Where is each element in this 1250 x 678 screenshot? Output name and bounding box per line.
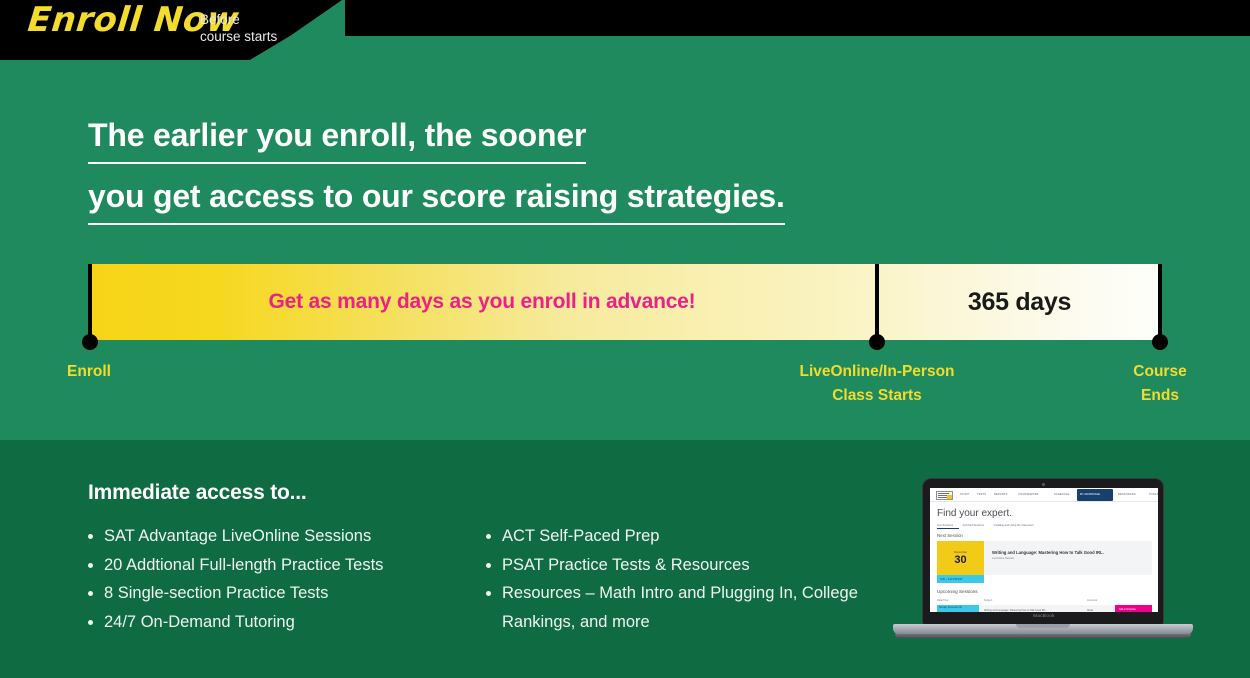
timeline-caption-class-starts-l1: LiveOnline/In-Person xyxy=(757,360,997,384)
nav-item-study[interactable]: STUDY xyxy=(960,493,970,496)
benefits-column-right: ACT Self-Paced Prep PSAT Practice Tests … xyxy=(486,522,906,636)
column-header-datetime: Date/Time xyxy=(937,599,948,602)
next-session-time-badge: 3:00 – 3:30 PM EST xyxy=(937,575,984,583)
nav-item-tests[interactable]: TESTS xyxy=(977,493,986,496)
tab-live-sessions[interactable]: Live Sessions xyxy=(937,524,953,527)
timeline-marker-course-ends xyxy=(1158,264,1162,340)
timeline-marker-class-starts xyxy=(875,264,879,340)
tab-active-underline xyxy=(937,528,959,529)
screen-tabs: Live Sessions Archived Sessions Installi… xyxy=(937,524,1043,527)
headline-row-2: you get access to our score raising stra… xyxy=(88,173,785,225)
headline-row-1: The earlier you enroll, the sooner xyxy=(88,112,785,164)
app-navbar: STUDY TESTS REPORTS COURSEWORK SCHEDULE … xyxy=(930,488,1158,502)
nav-item-my-advantage-label: MY ADVANTAGE xyxy=(1080,493,1100,496)
laptop-base-notch xyxy=(1016,624,1070,628)
add-to-schedule-label: Add to Schedule xyxy=(1119,609,1136,611)
nav-item-coursework[interactable]: COURSEWORK xyxy=(1018,493,1039,496)
laptop-screen: STUDY TESTS REPORTS COURSEWORK SCHEDULE … xyxy=(930,488,1158,612)
timeline-caption-enroll-l1: Enroll xyxy=(28,360,150,384)
benefit-text: PSAT Practice Tests & Resources xyxy=(502,551,750,580)
next-session-day: 30 xyxy=(937,554,984,567)
list-item: Resources – Math Intro and Plugging In, … xyxy=(486,579,906,636)
nav-item-resources[interactable]: RESOURCES xyxy=(1118,493,1136,496)
ribbon-subtext-line1: Before xyxy=(200,11,277,28)
row-date-badge: Sunday, December 30 xyxy=(937,605,979,612)
timeline-promo-label: Get as many days as you enroll in advanc… xyxy=(88,264,876,340)
list-item: SAT Advantage LiveOnline Sessions xyxy=(88,522,488,551)
row-date: Sunday, December 30 xyxy=(939,607,962,610)
bullet-dot-icon xyxy=(486,563,491,568)
tab-archived-sessions[interactable]: Archived Sessions xyxy=(963,524,984,527)
ribbon-subtext-line2: course starts xyxy=(200,28,277,45)
benefit-text: 20 Addtional Full-length Practice Tests xyxy=(104,551,383,580)
next-session-date-badge: December 30 xyxy=(937,541,984,575)
benefits-column-left: SAT Advantage LiveOnline Sessions 20 Add… xyxy=(88,522,488,636)
column-header-instructor: Instructor xyxy=(1087,599,1097,602)
next-session-subtitle: LiveOnline Session xyxy=(992,557,1014,560)
row-instructor: Alicia xyxy=(1087,609,1093,612)
laptop-mockup: STUDY TESTS REPORTS COURSEWORK SCHEDULE … xyxy=(893,478,1193,650)
bullet-dot-icon xyxy=(88,591,93,596)
nav-item-my-advantage[interactable]: MY ADVANTAGE xyxy=(1077,489,1113,501)
list-item: 24/7 On-Demand Tutoring xyxy=(88,608,488,637)
nav-item-schedule[interactable]: SCHEDULE xyxy=(1054,493,1069,496)
webcam-icon xyxy=(1042,483,1045,486)
timeline-caption-course-ends-l1: Course xyxy=(1100,360,1220,384)
benefits-title: Immediate access to... xyxy=(88,481,307,505)
benefit-text: 24/7 On-Demand Tutoring xyxy=(104,608,295,637)
next-session-time: 3:00 – 3:30 PM EST xyxy=(940,578,963,581)
headline: The earlier you enroll, the sooner you g… xyxy=(88,112,785,234)
timeline-caption-enroll: Enroll xyxy=(28,360,150,384)
list-item: 20 Addtional Full-length Practice Tests xyxy=(88,551,488,580)
timeline-caption-class-starts: LiveOnline/In-Person Class Starts xyxy=(757,360,997,408)
bullet-dot-icon xyxy=(88,534,93,539)
nav-item-reports[interactable]: REPORTS xyxy=(994,493,1008,496)
laptop-foot xyxy=(895,634,1191,638)
bullet-dot-icon xyxy=(88,563,93,568)
next-session-title: Writing and Language: Mastering How to T… xyxy=(992,550,1104,555)
timeline-dot-enroll xyxy=(82,334,98,350)
next-session-card[interactable]: December 30 Writing and Language: Master… xyxy=(937,541,1152,575)
row-subject: Writing and Language: Mastering How to T… xyxy=(984,609,1046,612)
laptop-lid: STUDY TESTS REPORTS COURSEWORK SCHEDULE … xyxy=(922,478,1164,625)
screen-page-title: Find your expert. xyxy=(937,508,1012,519)
benefit-text: 8 Single-section Practice Tests xyxy=(104,579,328,608)
table-row[interactable]: Sunday, December 30 Writing and Language… xyxy=(937,605,1152,612)
ribbon-subtext: Before course starts xyxy=(200,11,277,45)
next-session-heading: Next Session xyxy=(937,533,963,538)
tab-installing-classroom[interactable]: Installing and Using the Classroom xyxy=(994,524,1034,527)
headline-line-2: you get access to our score raising stra… xyxy=(88,173,785,225)
timeline-dot-course-ends xyxy=(1152,334,1168,350)
add-to-schedule-button[interactable]: Add to Schedule xyxy=(1115,605,1152,612)
benefit-text: ACT Self-Paced Prep xyxy=(502,522,659,551)
bullet-dot-icon xyxy=(88,620,93,625)
nav-item-tools[interactable]: TOOLS xyxy=(1149,493,1158,496)
timeline-caption-course-ends: Course Ends xyxy=(1100,360,1220,408)
list-item: ACT Self-Paced Prep xyxy=(486,522,906,551)
princeton-review-logo-icon xyxy=(936,491,953,500)
upcoming-sessions-heading: Upcoming Sessions xyxy=(937,589,978,594)
timeline-duration-label: 365 days xyxy=(877,264,1162,340)
enrollment-timeline: Get as many days as you enroll in advanc… xyxy=(88,264,1162,340)
benefit-text: Resources – Math Intro and Plugging In, … xyxy=(502,579,906,636)
benefit-text: SAT Advantage LiveOnline Sessions xyxy=(104,522,371,551)
bullet-dot-icon xyxy=(486,534,491,539)
headline-line-1: The earlier you enroll, the sooner xyxy=(88,112,586,164)
list-item: 8 Single-section Practice Tests xyxy=(88,579,488,608)
hero-background xyxy=(0,36,1250,440)
column-header-subject: Subject xyxy=(984,599,992,602)
timeline-caption-class-starts-l2: Class Starts xyxy=(757,384,997,408)
timeline-dot-class-starts xyxy=(869,334,885,350)
bullet-dot-icon xyxy=(486,591,491,596)
laptop-brand-label: MacBook xyxy=(923,613,1165,618)
timeline-marker-enroll xyxy=(88,264,92,340)
list-item: PSAT Practice Tests & Resources xyxy=(486,551,906,580)
timeline-caption-course-ends-l2: Ends xyxy=(1100,384,1220,408)
